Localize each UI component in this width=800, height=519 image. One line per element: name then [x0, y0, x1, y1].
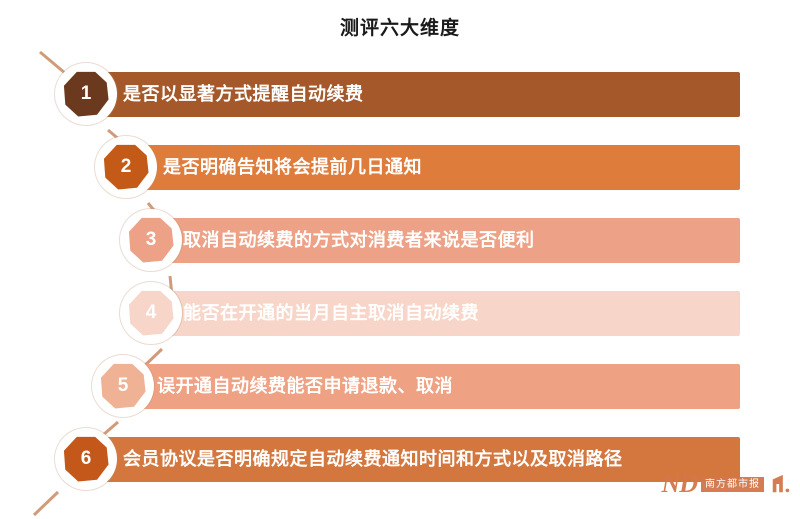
infographic-canvas: 测评六大维度 是否以显著方式提醒自动续费 1 是否明确告知将会提前几日通知 2	[0, 0, 800, 519]
badge-number: 4	[120, 282, 182, 344]
row-number-badge: 5	[92, 355, 154, 417]
watermark-publisher: 南方都市报	[701, 477, 764, 492]
row-label: 是否明确告知将会提前几日通知	[163, 145, 422, 190]
dimension-row: 是否以显著方式提醒自动续费 1	[0, 72, 800, 117]
page-title: 测评六大维度	[0, 16, 800, 40]
dimension-row: 取消自动续费的方式对消费者来说是否便利 3	[0, 218, 800, 263]
row-label: 取消自动续费的方式对消费者来说是否便利	[183, 218, 535, 263]
row-label: 会员协议是否明确规定自动续费通知时间和方式以及取消路径	[123, 437, 623, 482]
row-number-badge: 4	[120, 282, 182, 344]
row-label: 误开通自动续费能否申请退款、取消	[157, 364, 453, 409]
row-label: 是否以显著方式提醒自动续费	[123, 72, 364, 117]
badge-number: 6	[55, 428, 117, 490]
dimension-row: 误开通自动续费能否申请退款、取消 5	[0, 364, 800, 409]
watermark-logo-text: ND	[661, 473, 697, 495]
row-number-badge: 3	[120, 209, 182, 271]
badge-number: 2	[95, 136, 157, 198]
watermark-house-icon	[770, 473, 792, 495]
badge-number: 5	[92, 355, 154, 417]
badge-number: 1	[55, 63, 117, 125]
row-number-badge: 6	[55, 428, 117, 490]
dimension-row: 能否在开通的当月自主取消自动续费 4	[0, 291, 800, 336]
row-label: 能否在开通的当月自主取消自动续费	[183, 291, 479, 336]
row-number-badge: 1	[55, 63, 117, 125]
watermark: ND 南方都市报	[661, 473, 792, 495]
dimension-row: 是否明确告知将会提前几日通知 2	[0, 145, 800, 190]
badge-number: 3	[120, 209, 182, 271]
row-number-badge: 2	[95, 136, 157, 198]
